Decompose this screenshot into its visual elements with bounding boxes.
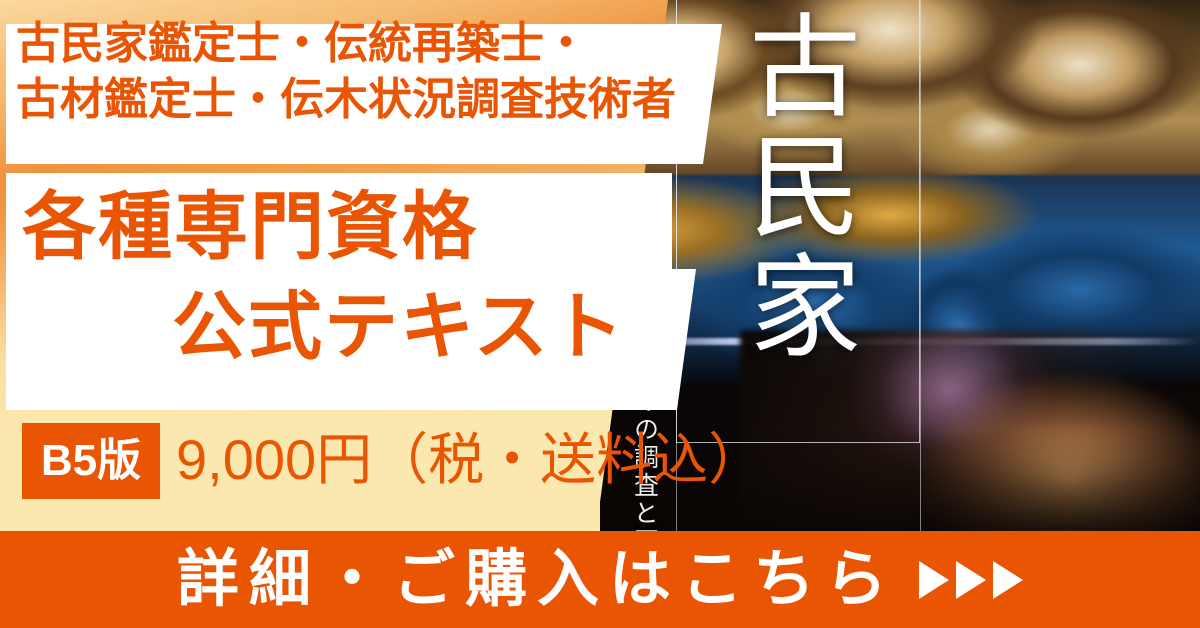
cover-title: 古民家 — [740, 8, 860, 368]
price-text: 9,000円（税・送料込） — [176, 432, 764, 488]
cover-rule-right — [920, 0, 921, 531]
arrow-right-icon — [993, 561, 1023, 599]
subhead-line-2: 公式テキスト — [172, 290, 626, 364]
format-badge: B5版 — [22, 423, 160, 499]
promo-banner: 伝統構法 古民家活用のための調査と再生の 古民家 古民家鑑定士・伝統再築士・ 古… — [0, 0, 1200, 628]
headline-line-2: 古材鑑定士・伝木状況調査技術者 — [16, 72, 716, 128]
cta-label: 詳細・ご購入はこちら — [177, 549, 897, 611]
format-badge-label: B5版 — [41, 439, 141, 483]
headline: 古民家鑑定士・伝統再築士・ 古材鑑定士・伝木状況調査技術者 — [16, 16, 716, 129]
headline-line-1: 古民家鑑定士・伝統再築士・ — [16, 19, 588, 68]
arrow-right-icon — [919, 561, 949, 599]
arrow-right-icon — [956, 561, 986, 599]
cta-bar[interactable]: 詳細・ご購入はこちら — [0, 531, 1200, 628]
subhead-line-1: 各種専門資格 — [22, 190, 478, 264]
cta-arrow-group — [919, 561, 1023, 599]
